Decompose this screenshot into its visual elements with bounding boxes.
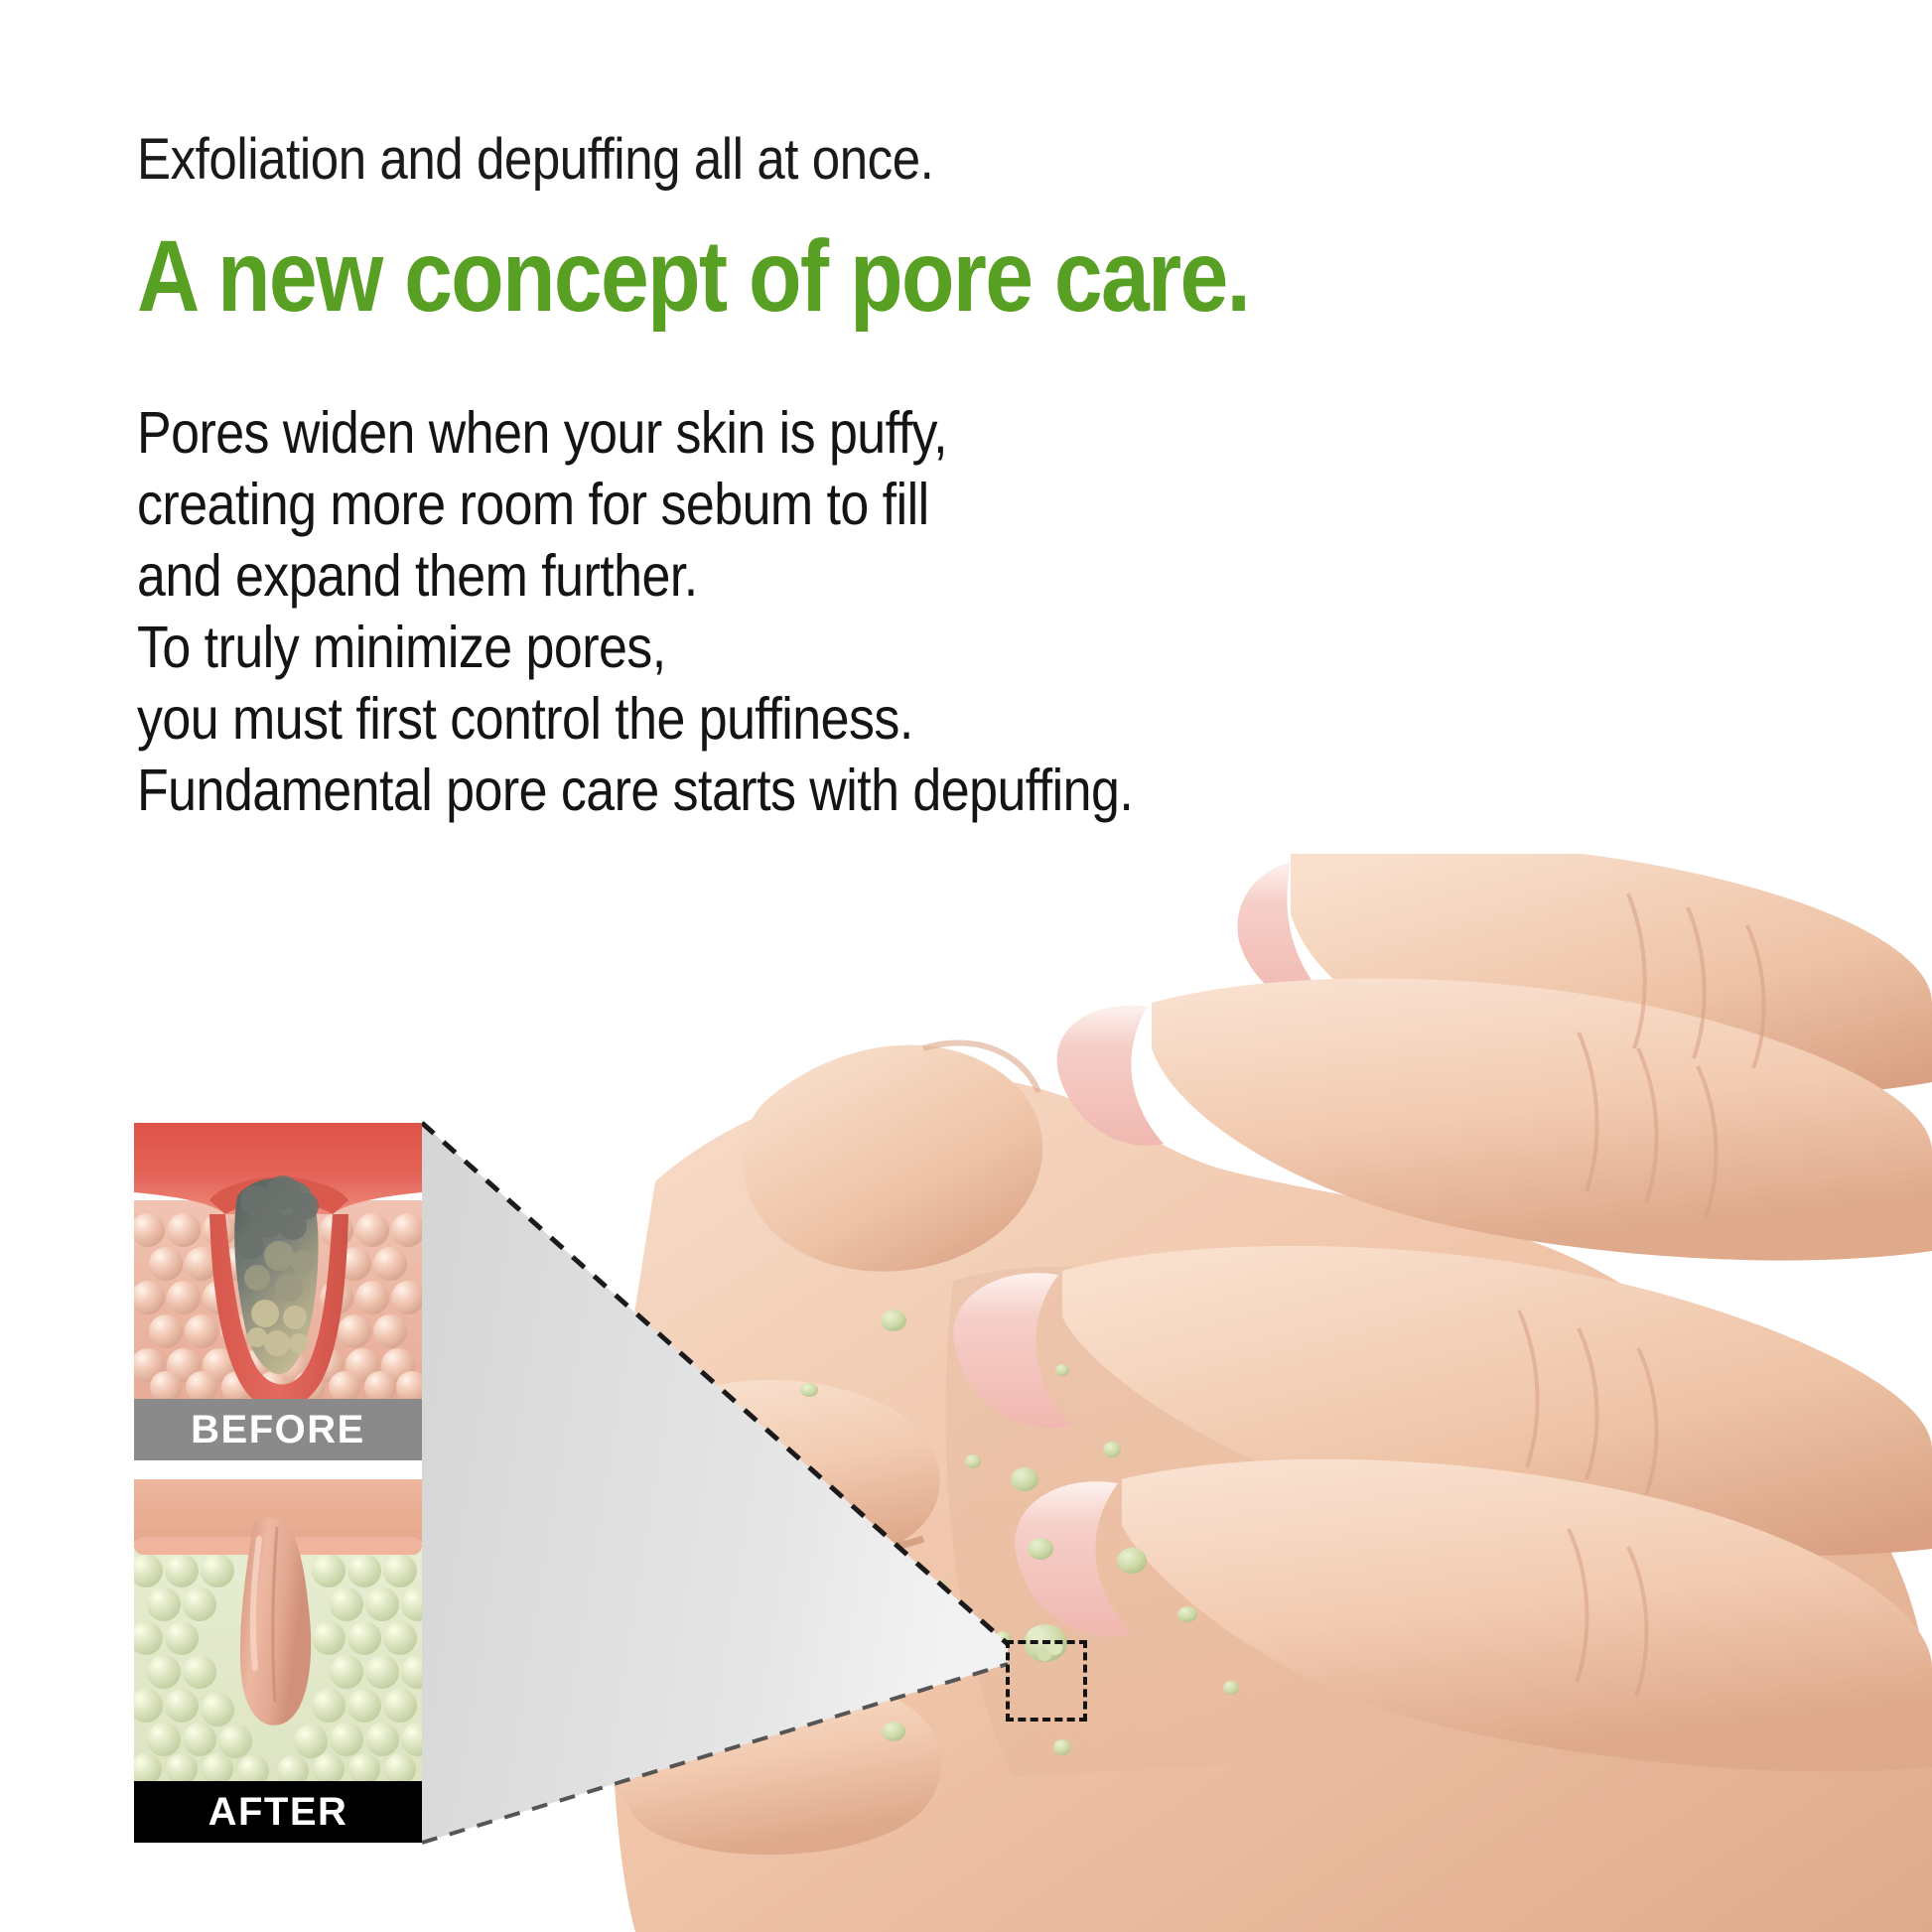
body-line-3: and expand them further. — [137, 540, 1133, 612]
marketing-image: BEFORE — [0, 0, 1932, 1932]
before-panel: BEFORE — [134, 1123, 422, 1460]
body-line-4: To truly minimize pores, — [137, 612, 1133, 683]
before-label-text: BEFORE — [191, 1408, 365, 1452]
body-line-6: Fundamental pore care starts with depuff… — [137, 755, 1133, 826]
body-copy: Pores widen when your skin is puffy, cre… — [137, 397, 1133, 826]
after-panel: AFTER — [134, 1479, 422, 1843]
granule-highlight-box — [1006, 1640, 1087, 1722]
after-label-bar: AFTER — [134, 1781, 422, 1843]
body-line-1: Pores widen when your skin is puffy, — [137, 397, 1133, 469]
subheadline: Exfoliation and depuffing all at once. — [137, 127, 933, 194]
before-label-bar: BEFORE — [134, 1399, 422, 1460]
body-line-2: creating more room for sebum to fill — [137, 469, 1133, 540]
magnification-callout — [397, 1112, 1092, 1866]
page-title: A new concept of pore care. — [137, 220, 1249, 332]
body-line-5: you must first control the puffiness. — [137, 683, 1133, 755]
after-label-text: AFTER — [208, 1790, 348, 1835]
wedge-fill — [422, 1123, 1008, 1843]
